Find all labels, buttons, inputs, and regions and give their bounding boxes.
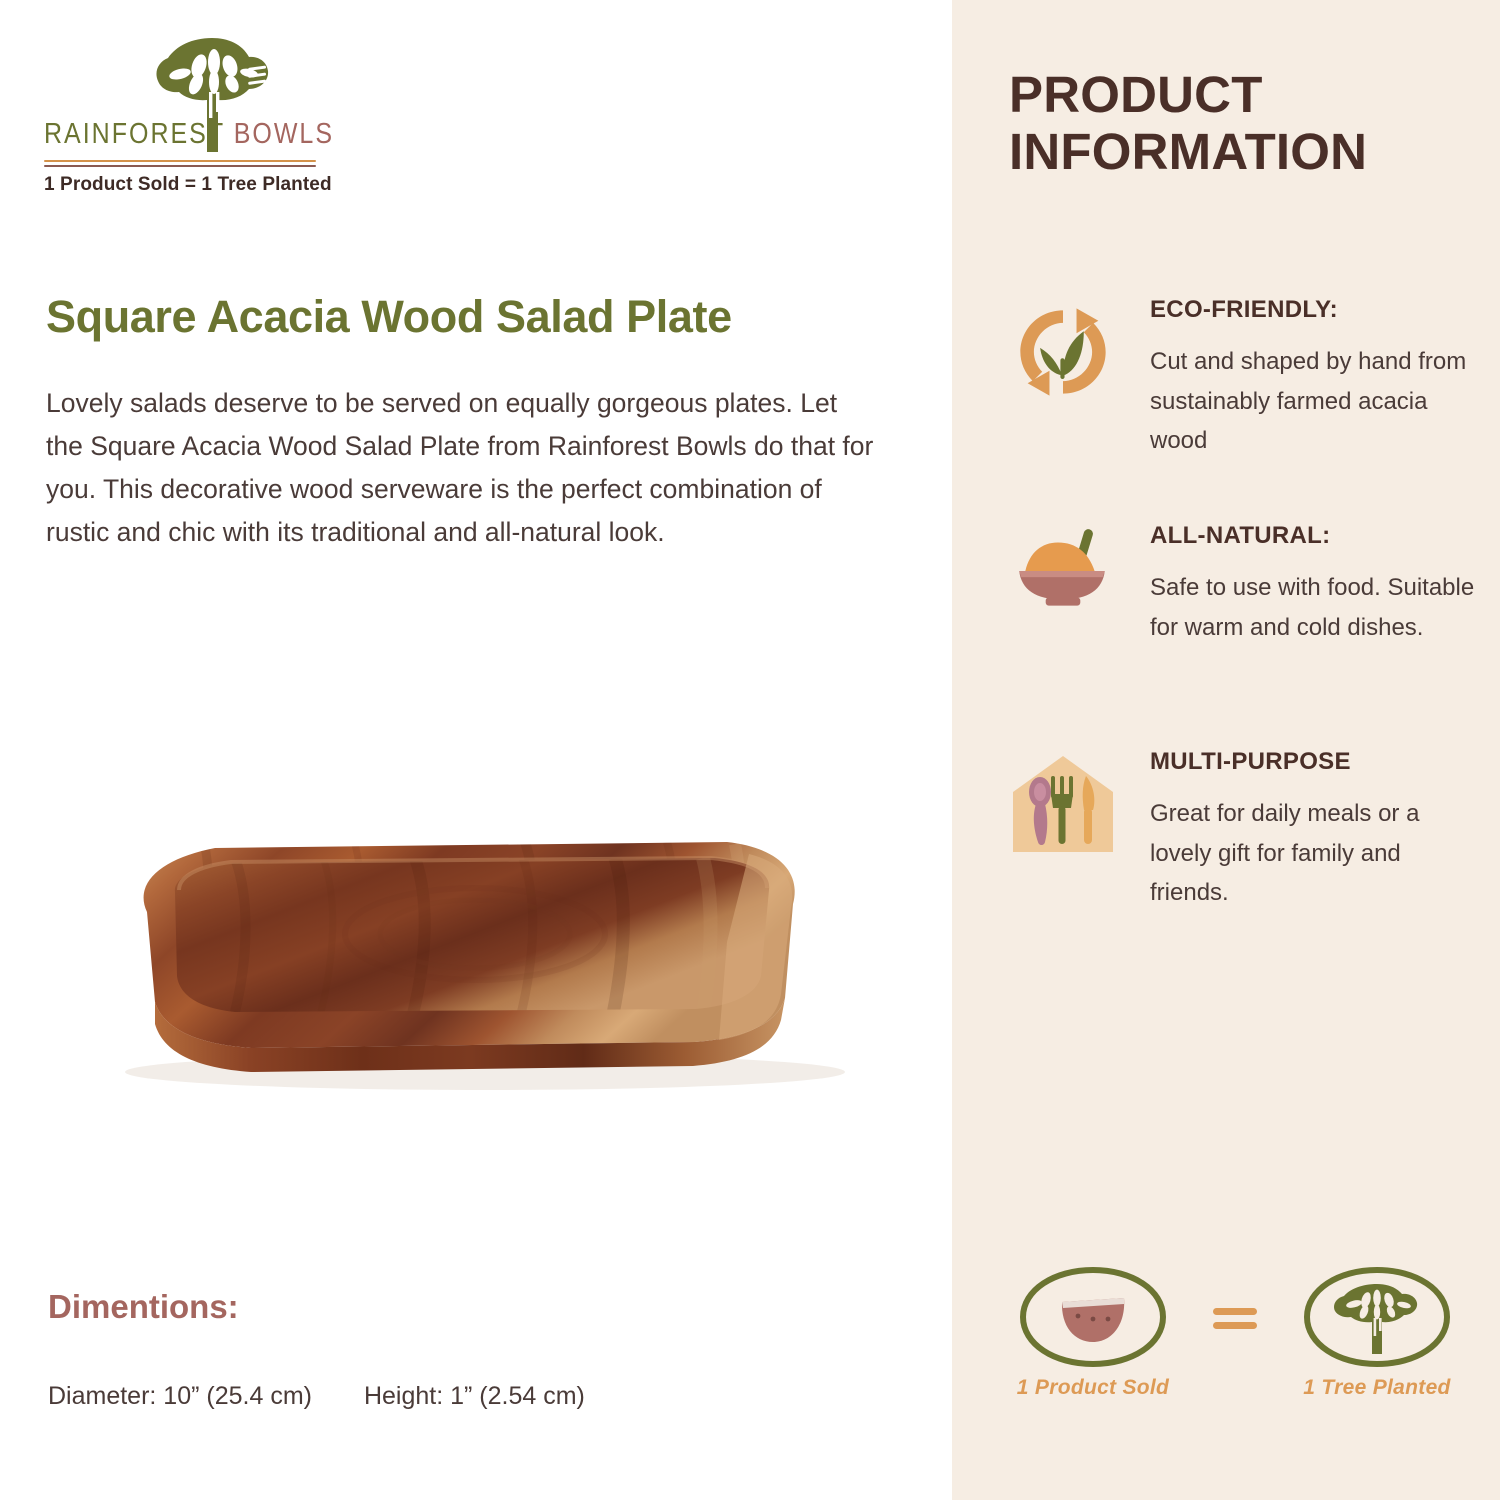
- dimension-height: Height: 1” (2.54 cm): [364, 1382, 585, 1411]
- product-description: Lovely salads deserve to be served on eq…: [46, 382, 876, 554]
- house-cutlery-icon: [1000, 748, 1126, 878]
- logo-wordmark: RAINFOREST BOWLS: [44, 114, 334, 154]
- product-info-page: RAINFOREST BOWLS 1 Product Sold = 1 Tree…: [0, 0, 1500, 1500]
- equals-icon: [1205, 1293, 1265, 1343]
- tree-in-circle-icon: [1284, 1262, 1470, 1374]
- tree-planted-label: 1 Tree Planted: [1284, 1376, 1470, 1400]
- feature-body: Cut and shaped by hand from sustainably …: [1150, 342, 1480, 461]
- feature-body: Safe to use with food. Suitable for warm…: [1150, 568, 1480, 647]
- logo-divider-orange: [44, 160, 316, 162]
- product-photo: [55, 762, 910, 1102]
- feature-text: ECO-FRIENDLY: Cut and shaped by hand fro…: [1126, 296, 1480, 461]
- logo-top-row: RAINFOREST BOWLS: [44, 32, 334, 154]
- panel-title: PRODUCT INFORMATION: [1009, 66, 1479, 180]
- product-sold-badge: 1 Product Sold: [1000, 1262, 1186, 1400]
- logo-divider: [44, 160, 316, 168]
- feature-item: ALL-NATURAL: Safe to use with food. Suit…: [1000, 522, 1480, 702]
- bowl-in-circle-icon: [1000, 1262, 1186, 1374]
- brand-tagline: 1 Product Sold = 1 Tree Planted: [44, 174, 334, 196]
- feature-text: MULTI-PURPOSE Great for daily meals or a…: [1126, 748, 1480, 913]
- feature-body: Great for daily meals or a lovely gift f…: [1150, 794, 1480, 913]
- feature-list: ECO-FRIENDLY: Cut and shaped by hand fro…: [1000, 296, 1480, 974]
- feature-item: MULTI-PURPOSE Great for daily meals or a…: [1000, 748, 1480, 928]
- left-panel: RAINFOREST BOWLS 1 Product Sold = 1 Tree…: [0, 0, 952, 1500]
- product-sold-label: 1 Product Sold: [1000, 1376, 1186, 1400]
- dimension-diameter: Diameter: 10” (25.4 cm): [48, 1382, 312, 1411]
- logo-word-rainforest: RAINFOREST: [44, 117, 225, 150]
- feature-heading: ALL-NATURAL:: [1150, 522, 1480, 550]
- dimensions-heading: Dimentions:: [48, 1288, 239, 1326]
- tree-pledge-badge: 1 Product Sold: [1000, 1262, 1470, 1400]
- bowl-of-food-icon: [1000, 522, 1126, 652]
- dimensions-values: Diameter: 10” (25.4 cm) Height: 1” (2.54…: [48, 1382, 585, 1411]
- feature-heading: ECO-FRIENDLY:: [1150, 296, 1480, 324]
- feature-text: ALL-NATURAL: Safe to use with food. Suit…: [1126, 522, 1480, 647]
- logo-word-bowls: BOWLS: [234, 117, 334, 150]
- recycle-leaf-icon: [1000, 296, 1126, 426]
- brand-logo: RAINFOREST BOWLS 1 Product Sold = 1 Tree…: [44, 32, 334, 196]
- logo-divider-brown: [44, 165, 316, 167]
- feature-heading: MULTI-PURPOSE: [1150, 748, 1480, 776]
- tree-planted-badge: 1 Tree Planted: [1284, 1262, 1470, 1400]
- product-information-panel: PRODUCT INFORMATION: [952, 0, 1500, 1500]
- page-title: Square Acacia Wood Salad Plate: [46, 293, 906, 340]
- feature-item: ECO-FRIENDLY: Cut and shaped by hand fro…: [1000, 296, 1480, 476]
